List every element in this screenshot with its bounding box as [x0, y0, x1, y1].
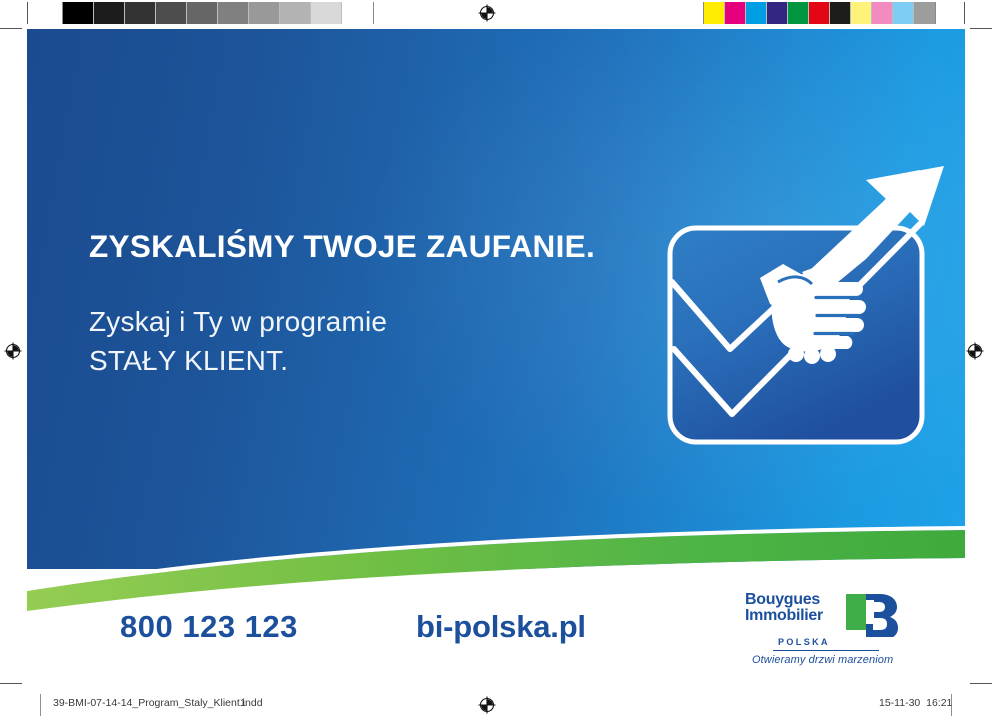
registration-target-icon-left	[2, 340, 24, 362]
headline-block: ZYSKALIŚMY TWOJE ZAUFANIE. Zyskaj i Ty w…	[89, 229, 689, 381]
registration-target-icon-right	[964, 340, 986, 362]
grey-swatch	[280, 2, 311, 24]
color-swatch-strip	[703, 2, 936, 24]
slug-timestamp: 15-11-30 16:21	[879, 697, 952, 709]
slug-filename: 39-BMI-07-14-14_Program_Staly_Klient.ind…	[53, 697, 263, 709]
greyscale-swatch-strip	[62, 2, 374, 24]
grey-swatch	[249, 2, 280, 24]
registration-target-icon-top-center	[476, 2, 498, 24]
grey-swatch	[187, 2, 218, 24]
logo-b-symbol-icon	[846, 590, 900, 637]
phone-number[interactable]: 800 123 123	[120, 609, 298, 645]
grey-swatch	[342, 2, 373, 24]
subheadline-line-1: Zyskaj i Ty w programie	[89, 302, 689, 342]
color-swatch	[725, 2, 746, 24]
logo-tagline: Otwieramy drzwi marzeniom	[752, 654, 893, 666]
prepress-top-bar	[0, 0, 992, 28]
prepress-footer-slug: 39-BMI-07-14-14_Program_Staly_Klient.ind…	[0, 688, 992, 722]
crop-mark-bottom-right-h	[970, 683, 992, 684]
crop-mark-top-right-h	[970, 28, 992, 29]
color-swatch	[767, 2, 788, 24]
logo-word-bouygues: Bouygues	[745, 592, 823, 608]
logo-word-immobilier: Immobilier	[745, 608, 823, 624]
color-swatch	[809, 2, 830, 24]
leaflet-artwork: ZYSKALIŚMY TWOJE ZAUFANIE. Zyskaj i Ty w…	[27, 29, 965, 683]
logo-wordmark: Bouygues Immobilier	[745, 592, 823, 624]
slug-time: 16:21	[926, 697, 952, 709]
color-swatch	[830, 2, 851, 24]
color-swatch	[704, 2, 725, 24]
crop-mark-bottom-left-h	[0, 683, 22, 684]
logo-lockup: Bouygues Immobilier	[745, 592, 900, 637]
grey-swatch	[218, 2, 249, 24]
crop-mark-top-right-v	[964, 2, 965, 24]
grey-swatch	[125, 2, 156, 24]
slug-page-number: 1	[240, 697, 246, 709]
grey-swatch	[94, 2, 125, 24]
color-swatch	[893, 2, 914, 24]
website-url[interactable]: bi-polska.pl	[416, 609, 586, 645]
color-swatch	[851, 2, 872, 24]
logo-divider	[773, 650, 879, 651]
color-swatch	[914, 2, 935, 24]
slug-date: 15-11-30	[879, 697, 920, 709]
handshake-upward-arrow-checkmark-icon	[652, 164, 952, 454]
subheadline-line-2: STAŁY KLIENT.	[89, 341, 689, 381]
grey-swatch	[311, 2, 342, 24]
color-swatch	[872, 2, 893, 24]
crop-mark-top-left-h	[0, 28, 22, 29]
bouygues-immobilier-logo: Bouygues Immobilier POLSKA Otwieramy drz…	[745, 592, 900, 674]
color-swatch	[788, 2, 809, 24]
crop-mark-top-left-v	[27, 2, 28, 24]
page-title: ZYSKALIŚMY TWOJE ZAUFANIE.	[89, 229, 689, 264]
grey-swatch	[63, 2, 94, 24]
contact-row: 800 123 123 bi-polska.pl Bouygues Immobi…	[27, 604, 965, 683]
grey-swatch	[156, 2, 187, 24]
color-swatch	[746, 2, 767, 24]
logo-country-label: POLSKA	[778, 637, 830, 647]
